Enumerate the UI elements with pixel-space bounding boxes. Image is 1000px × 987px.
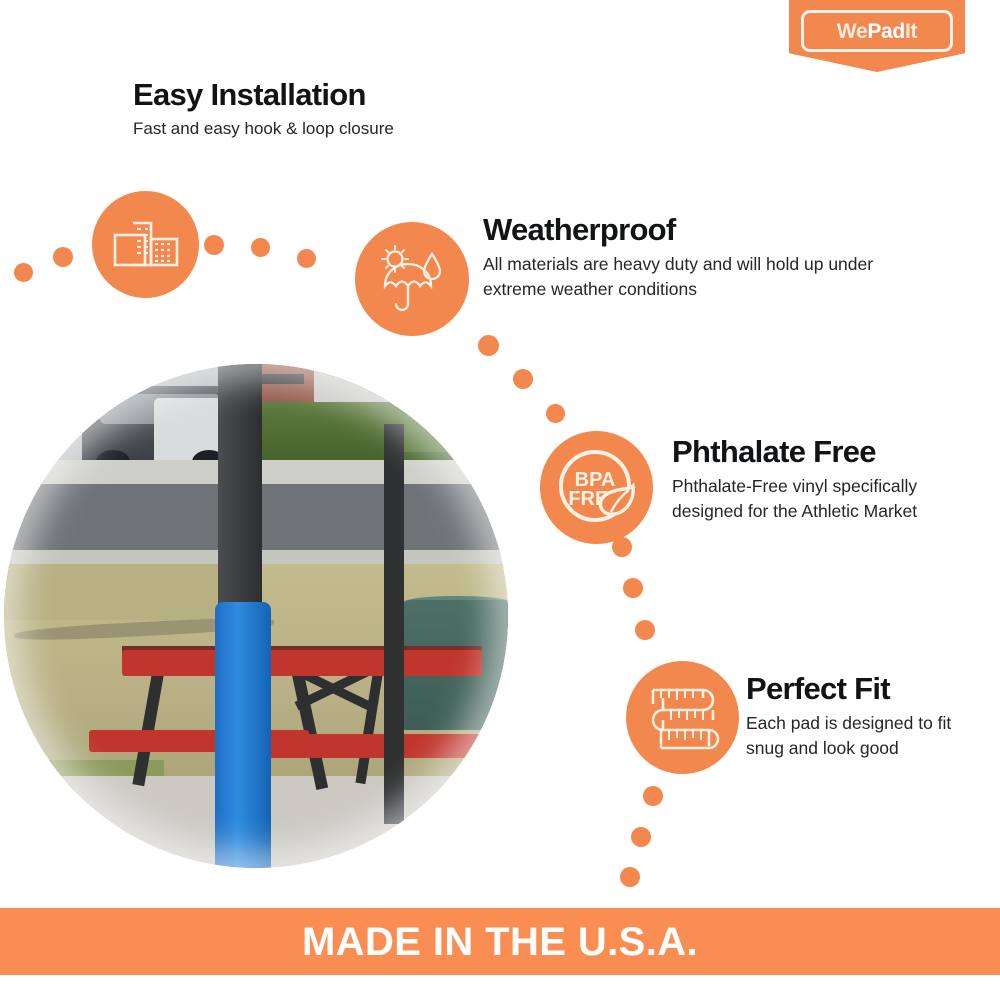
feature-body: Phthalate-Free vinyl specifically design… bbox=[672, 474, 972, 524]
bpa-free-leaf-icon: BPA FREE bbox=[540, 431, 653, 544]
feature-title: Perfect Fit bbox=[746, 672, 986, 705]
buildings-icon bbox=[92, 191, 199, 298]
feature-easy-installation: Easy Installation Fast and easy hook & l… bbox=[133, 78, 394, 142]
path-dot bbox=[251, 238, 270, 257]
photo-vignette bbox=[4, 364, 508, 868]
path-dot bbox=[643, 786, 663, 806]
logo-text-we: We bbox=[837, 20, 868, 43]
feature-phthalate-free: Phthalate Free Phthalate-Free vinyl spec… bbox=[672, 435, 972, 524]
feature-body: All materials are heavy duty and will ho… bbox=[483, 252, 903, 302]
path-dot bbox=[620, 867, 640, 887]
path-dot bbox=[631, 827, 651, 847]
path-dot bbox=[297, 249, 316, 268]
feature-title: Easy Installation bbox=[133, 78, 394, 111]
path-dot bbox=[14, 263, 33, 282]
feature-title: Phthalate Free bbox=[672, 435, 972, 468]
product-photo bbox=[4, 364, 508, 868]
umbrella-sun-raindrop-icon bbox=[355, 222, 469, 336]
feature-body: Fast and easy hook & loop closure bbox=[133, 117, 394, 141]
brand-logo[interactable]: WePadIt bbox=[789, 0, 965, 72]
path-dot bbox=[546, 404, 565, 423]
feature-weatherproof: Weatherproof All materials are heavy dut… bbox=[483, 213, 903, 302]
logo-text-pad: Pad bbox=[867, 20, 905, 43]
path-dot bbox=[513, 369, 533, 389]
path-dot bbox=[204, 235, 224, 255]
made-in-usa-banner: MADE IN THE U.S.A. bbox=[0, 908, 1000, 975]
path-dot bbox=[635, 620, 655, 640]
feature-perfect-fit: Perfect Fit Each pad is designed to fit … bbox=[746, 672, 986, 761]
logo-text-it: It bbox=[905, 20, 917, 43]
measuring-tape-icon bbox=[626, 661, 739, 774]
path-dot bbox=[623, 578, 643, 598]
feature-title: Weatherproof bbox=[483, 213, 903, 246]
path-dot bbox=[53, 247, 73, 267]
feature-body: Each pad is designed to fit snug and loo… bbox=[746, 711, 986, 761]
path-dot bbox=[612, 537, 632, 557]
made-in-usa-text: MADE IN THE U.S.A. bbox=[302, 922, 698, 962]
logo-outline-box: WePadIt bbox=[801, 10, 953, 52]
logo-text: WePadIt bbox=[837, 21, 917, 42]
path-dot bbox=[478, 335, 499, 356]
infographic-page: WePadIt Easy Installation Fast and easy … bbox=[0, 0, 1000, 987]
